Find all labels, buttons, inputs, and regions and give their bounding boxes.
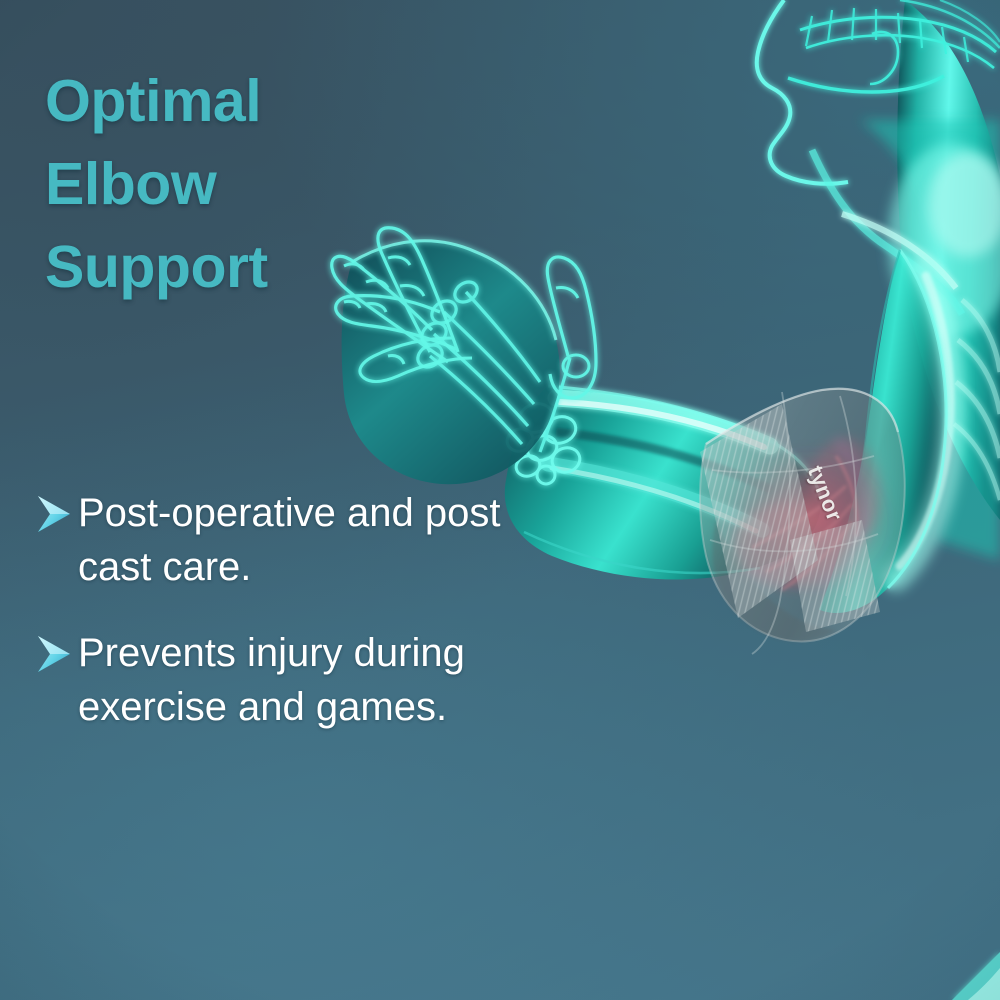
list-item: Post-operative and post cast care. [32, 486, 632, 594]
product-banner: Optimal Elbow Support Post-operative and… [0, 0, 1000, 1000]
feature-list: Post-operative and post cast care. Preve… [32, 486, 632, 766]
page-title: Optimal Elbow Support [45, 60, 268, 309]
list-item-label: Prevents injury during exercise and game… [78, 626, 465, 734]
arrow-bullet-icon [32, 630, 76, 678]
arrow-bullet-icon [32, 490, 76, 538]
list-item: Prevents injury during exercise and game… [32, 626, 632, 734]
list-item-label: Post-operative and post cast care. [78, 486, 500, 594]
